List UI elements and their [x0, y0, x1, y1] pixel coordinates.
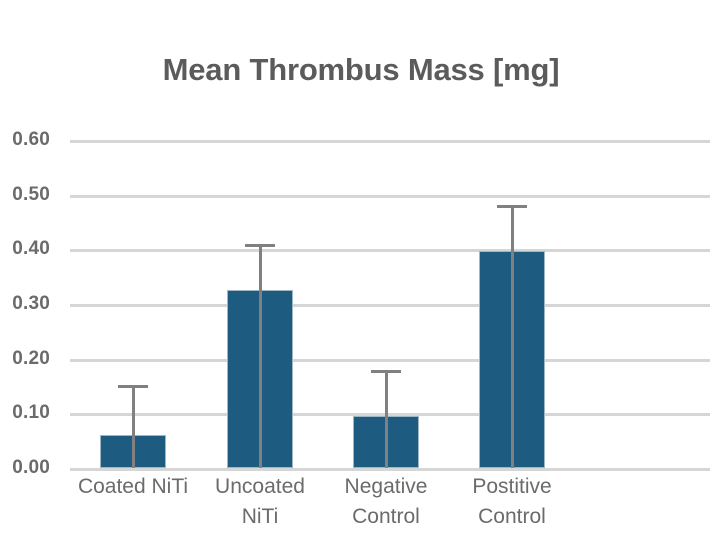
- bar-uncoated-niti[interactable]: [227, 290, 293, 468]
- plot-area: 0.60 0.50 0.40 0.30 0.20 0.10 0.00: [70, 140, 710, 468]
- chart-title: Mean Thrombus Mass [mg]: [0, 52, 722, 88]
- errorbar-cap-upper: [245, 244, 275, 247]
- errorbar-cap-upper: [118, 385, 148, 388]
- gridline-0.00-baseline: [70, 468, 710, 471]
- errorbar-cap-upper: [497, 205, 527, 208]
- gridline-0.40: [70, 249, 710, 252]
- bar-negative-control[interactable]: [353, 416, 419, 468]
- ytick-label-0.50: 0.50: [0, 184, 50, 206]
- ytick-label-0.00: 0.00: [0, 457, 50, 479]
- x-axis-labels: Coated NiTi Uncoated NiTi Negative Contr…: [70, 472, 710, 543]
- gridline-0.30: [70, 304, 710, 307]
- xtick-label-postitive-control: Postitive Control: [432, 472, 592, 532]
- ytick-label-0.60: 0.60: [0, 129, 50, 151]
- ytick-label-0.20: 0.20: [0, 348, 50, 370]
- ytick-label-0.30: 0.30: [0, 293, 50, 315]
- bar-coated-niti[interactable]: [100, 435, 166, 468]
- ytick-label-0.10: 0.10: [0, 402, 50, 424]
- gridline-0.20: [70, 359, 710, 362]
- gridline-0.50: [70, 195, 710, 198]
- bar-postitive-control[interactable]: [479, 251, 545, 468]
- ytick-label-0.40: 0.40: [0, 238, 50, 260]
- gridline-0.60: [70, 140, 710, 143]
- bar-chart: Mean Thrombus Mass [mg] 0.60 0.50 0.40 0…: [0, 0, 722, 543]
- errorbar-cap-upper: [371, 370, 401, 373]
